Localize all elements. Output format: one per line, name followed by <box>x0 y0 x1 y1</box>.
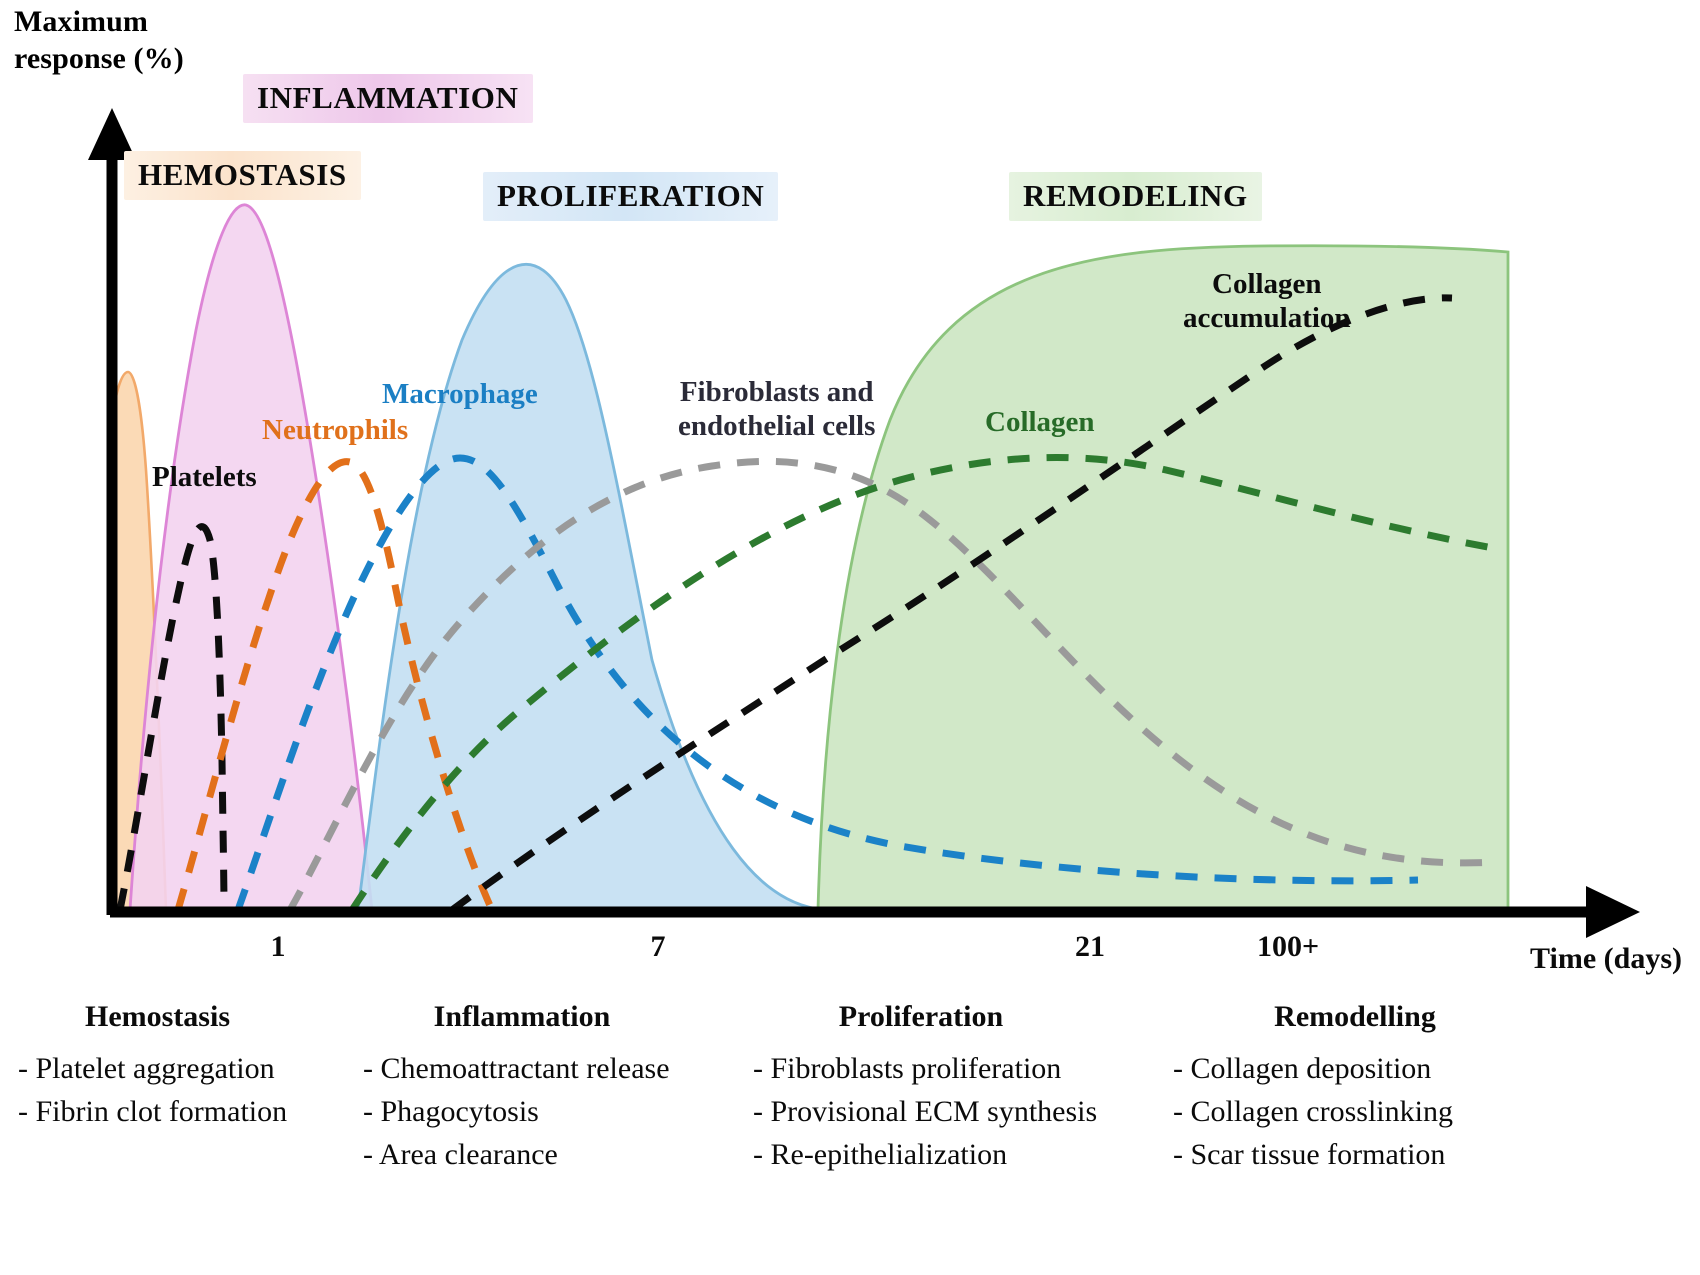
area-inflammation <box>130 205 372 910</box>
curve-label-collagen-accumulation-line2: accumulation <box>1183 301 1351 335</box>
curve-label-fibroblasts-line1: Fibroblasts and <box>678 375 875 409</box>
phase-banner-hemostasis: HEMOSTASIS <box>124 151 361 200</box>
legend-item: - Platelet aggregation <box>18 1048 345 1091</box>
legend-item: - Chemoattractant release <box>363 1048 735 1091</box>
area-remodeling <box>818 246 1508 910</box>
curve-label-macrophage: Macrophage <box>382 379 538 411</box>
legend-item: - Re-epithelialization <box>753 1134 1155 1177</box>
legend-item: - Area clearance <box>363 1134 735 1177</box>
x-tick-label-21: 21 <box>1075 930 1105 964</box>
legend-column-remodelling: Remodelling - Collagen deposition - Coll… <box>1155 1000 1575 1177</box>
legend-column-proliferation: Proliferation - Fibroblasts proliferatio… <box>735 1000 1155 1177</box>
curve-label-collagen-accumulation-line1: Collagen <box>1183 267 1351 301</box>
x-tick-label-100plus: 100+ <box>1257 930 1319 964</box>
legend-item: - Fibroblasts proliferation <box>753 1048 1155 1091</box>
phase-banner-remodeling: REMODELING <box>1009 172 1262 221</box>
x-tick-label-1: 1 <box>271 930 286 964</box>
legend-heading-proliferation: Proliferation <box>753 1000 1155 1034</box>
phase-summary-legend: Hemostasis - Platelet aggregation - Fibr… <box>0 1000 1700 1177</box>
legend-item: - Fibrin clot formation <box>18 1091 345 1134</box>
x-axis-arrowhead <box>1586 886 1640 938</box>
curve-label-collagen-accumulation: Collagen accumulation <box>1183 267 1351 335</box>
legend-heading-hemostasis: Hemostasis <box>18 1000 345 1034</box>
legend-item: - Collagen crosslinking <box>1173 1091 1575 1134</box>
curve-label-collagen: Collagen <box>985 407 1095 439</box>
curve-label-platelets: Platelets <box>152 462 257 494</box>
curve-label-fibroblasts-line2: endothelial cells <box>678 409 875 443</box>
x-axis-title: Time (days) <box>1530 942 1682 976</box>
legend-heading-inflammation: Inflammation <box>363 1000 735 1034</box>
legend-item: - Scar tissue formation <box>1173 1134 1575 1177</box>
legend-item: - Provisional ECM synthesis <box>753 1091 1155 1134</box>
legend-column-inflammation: Inflammation - Chemoattractant release -… <box>345 1000 735 1177</box>
wound-healing-phases-figure: Maximum response (%) <box>0 0 1700 1275</box>
phase-banner-proliferation: PROLIFERATION <box>483 172 778 221</box>
phase-banner-inflammation: INFLAMMATION <box>243 74 533 123</box>
curve-label-neutrophils: Neutrophils <box>262 415 408 447</box>
curve-label-fibroblasts-endothelial: Fibroblasts and endothelial cells <box>678 375 875 443</box>
legend-heading-remodelling: Remodelling <box>1173 1000 1575 1034</box>
legend-item: - Phagocytosis <box>363 1091 735 1134</box>
legend-column-hemostasis: Hemostasis - Platelet aggregation - Fibr… <box>0 1000 345 1177</box>
legend-item: - Collagen deposition <box>1173 1048 1575 1091</box>
x-tick-label-7: 7 <box>651 930 666 964</box>
